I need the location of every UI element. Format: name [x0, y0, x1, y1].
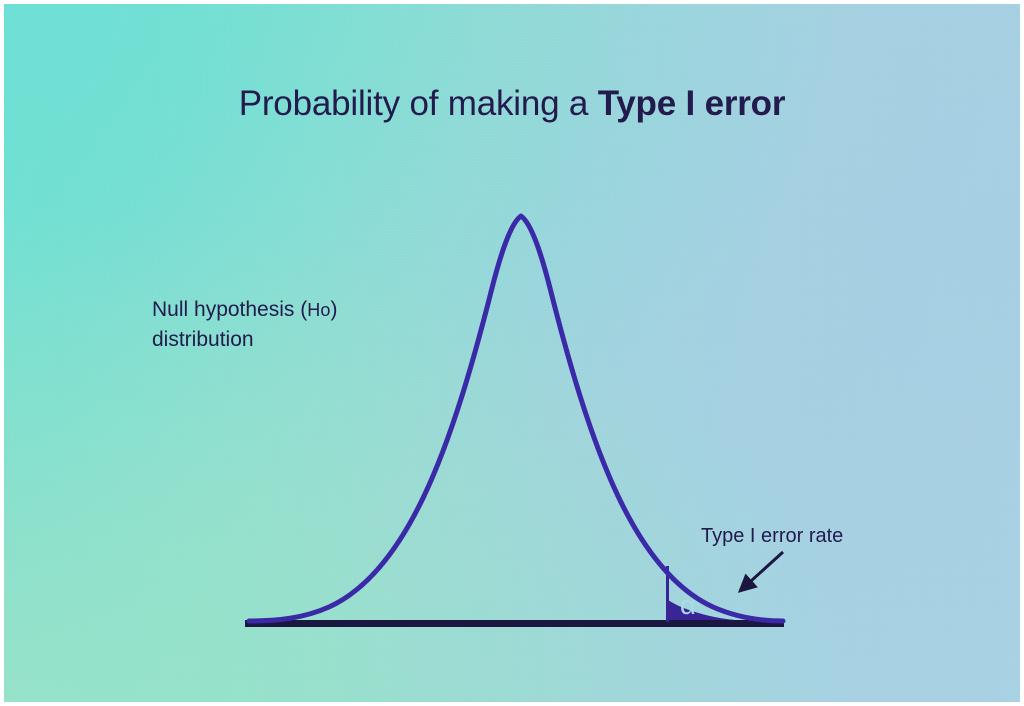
null-hypothesis-label: Null hypothesis (Ho) distribution [152, 295, 422, 354]
null-hypothesis-line2: distribution [152, 328, 254, 351]
alpha-tail-fill [245, 214, 783, 622]
title-light-part: Probability of making a [239, 84, 598, 123]
null-hypothesis-text-pre: Null hypothesis ( [152, 298, 307, 321]
normal-curve [249, 216, 783, 621]
figure-stage: Probability of making a Type I error Nul… [0, 0, 1024, 706]
alpha-symbol-label: α [680, 590, 696, 620]
figure-canvas: Probability of making a Type I error Nul… [4, 4, 1020, 702]
type-i-error-arrow [740, 552, 783, 591]
null-hypothesis-h0: Ho [307, 300, 330, 320]
page-title: Probability of making a Type I error [4, 82, 1020, 126]
title-bold-part: Type I error [598, 84, 786, 123]
type-i-error-rate-label: Type I error rate [701, 523, 843, 549]
null-hypothesis-text-post: ) [330, 298, 337, 321]
